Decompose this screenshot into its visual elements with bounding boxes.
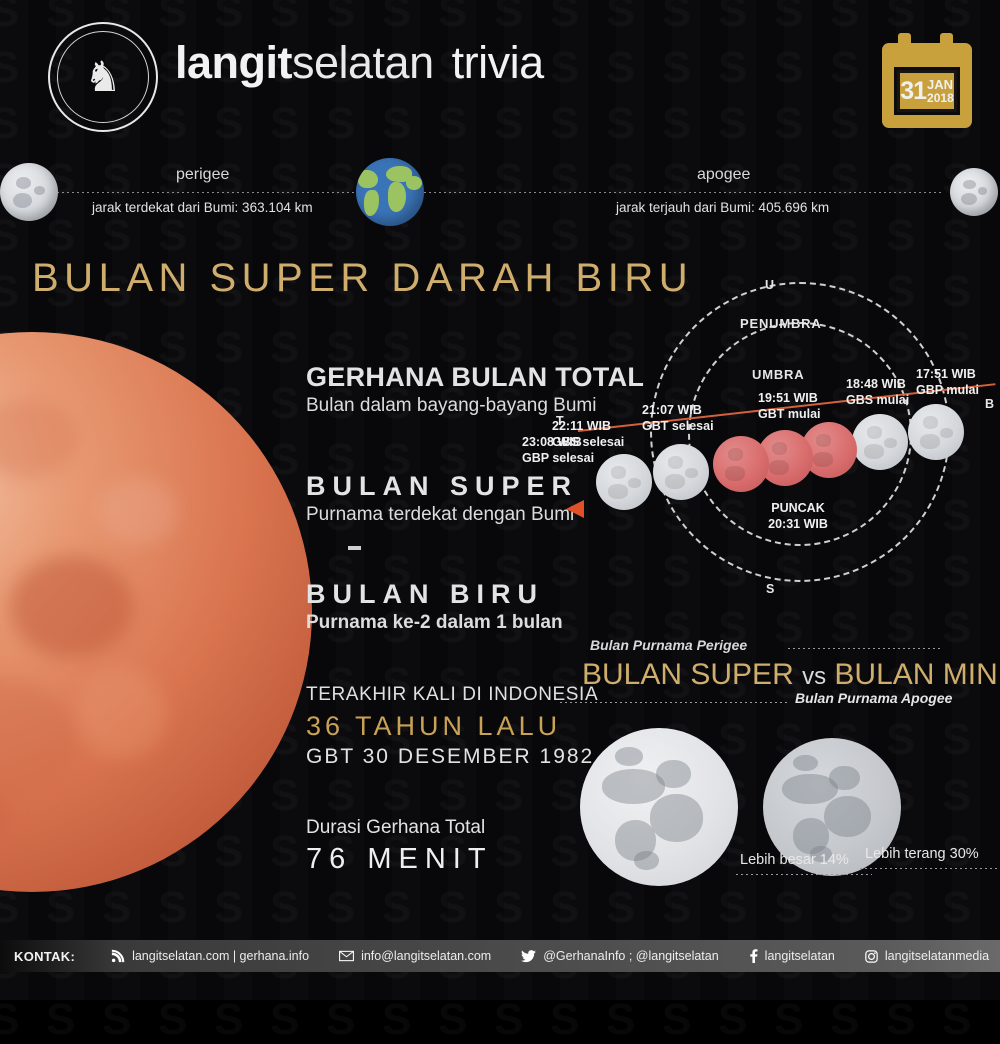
cardinal-north-label: U (765, 278, 775, 292)
apogee-distance: jarak terjauh dari Bumi: 405.696 km (616, 200, 829, 215)
duration-label: Durasi Gerhana Total (306, 817, 493, 839)
dotted-connector-bottom (560, 702, 790, 703)
phase-time: 23:08 WIB (522, 434, 594, 450)
last-occurrence-date: GBT 30 DESEMBER 1982 (306, 745, 598, 769)
envelope-icon (339, 950, 354, 962)
cardinal-east-label: B (985, 397, 995, 411)
footer-item-text: info@langitselatan.com (361, 949, 491, 963)
brand-light: selatan (292, 37, 434, 88)
apogee-label: apogee (697, 166, 750, 184)
phase-time: 17:51 WIB (916, 366, 979, 382)
brighter-percentage-label: Lebih terang 30% (865, 846, 979, 862)
phase-time: 21:07 WIB (642, 402, 714, 418)
phase-moon-5 (653, 444, 709, 500)
earth-globe-icon (356, 158, 424, 226)
phase-label-6: 23:08 WIB GBP selesai (522, 434, 594, 467)
instagram-icon (865, 950, 878, 963)
twitter-icon (521, 950, 536, 963)
phase-event: GBP mulai (916, 382, 979, 398)
last-occurrence-years: 36 TAHUN LALU (306, 711, 598, 742)
comparison-title-right: BULAN MINI (834, 658, 1000, 691)
footer-item-email[interactable]: info@langitselatan.com (339, 949, 491, 963)
dotted-underline-bigger (736, 874, 872, 875)
calendar-body: 31 JAN 2018 (882, 43, 972, 128)
moon-path-arrow-head (566, 500, 584, 518)
super-vs-mini-section: Bulan Purnama Perigee BULAN SUPER vs BUL… (560, 634, 1000, 894)
phase-moon-4 (713, 436, 769, 492)
comparison-title-left: BULAN SUPER (582, 658, 794, 691)
apogee-moon-icon (950, 168, 998, 216)
peak-title: PUNCAK (753, 500, 843, 516)
phase-moon-1 (908, 404, 964, 460)
perigee-moon-icon (0, 163, 58, 221)
perigee-fullmoon-label: Bulan Purnama Perigee (590, 637, 747, 653)
cardinal-south-label: S (766, 582, 775, 596)
comparison-title-vs: vs (802, 663, 826, 690)
dotted-connector-top (788, 648, 943, 649)
fact-bulan-super: BULAN SUPER Purnama terdekat dengan Bumi (306, 472, 578, 526)
footer-item-text: @GerhanaInfo ; @langitselatan (543, 949, 718, 963)
duration-value: 76 MENIT (306, 843, 493, 876)
phase-label-2: 18:48 WIB GBS mulai (846, 376, 909, 409)
fact-subtitle: Purnama ke-2 dalam 1 bulan (306, 612, 563, 634)
phase-event: GBP selesai (522, 450, 594, 466)
comparison-title: BULAN SUPER vs BULAN MINI (582, 658, 1000, 692)
umbra-label: UMBRA (752, 367, 804, 382)
calendar-date-plate: 31 JAN 2018 (900, 73, 954, 109)
footer-item-text: langitselatan.com | gerhana.info (132, 949, 309, 963)
last-occurrence-block: TERAKHIR KALI DI INDONESIA 36 TAHUN LALU… (306, 684, 598, 769)
calendar-badge: 31 JAN 2018 (882, 33, 972, 128)
seal-bottom-label: ASTRO 101 (50, 24, 120, 27)
peak-label: PUNCAK 20:31 WIB (753, 500, 843, 533)
footer-item-text: langitselatan (765, 949, 835, 963)
orbit-dotted-line-right (424, 192, 942, 193)
penumbra-label: PENUMBRA (740, 316, 822, 331)
calendar-month: JAN (927, 78, 954, 91)
calendar-day: 31 (900, 79, 926, 104)
brand-bold: langit (175, 37, 292, 88)
phase-event: GBT selesai (642, 418, 714, 434)
phase-time: 18:48 WIB (846, 376, 909, 392)
peak-time: 20:31 WIB (753, 516, 843, 532)
perigee-distance: jarak terdekat dari Bumi: 363.104 km (92, 200, 313, 215)
phase-time: 19:51 WIB (758, 390, 821, 406)
fact-subtitle: Purnama terdekat dengan Bumi (306, 504, 578, 526)
apogee-fullmoon-label: Bulan Purnama Apogee (795, 690, 952, 706)
super-moon-illustration (580, 728, 738, 886)
langitselatan-logo-seal: LANGITSELATAN ASTRO 101 ♞ (48, 22, 158, 132)
fact-bulan-biru: BULAN BIRU Purnama ke-2 dalam 1 bulan (306, 580, 563, 634)
footer-item-website[interactable]: langitselatan.com | gerhana.info (111, 949, 309, 963)
divider-dash (348, 546, 361, 550)
eclipse-path-diagram: PENUMBRA UMBRA U S T B 17:51 WIB GBP mu (560, 272, 1000, 612)
orbit-dotted-line-left (42, 192, 357, 193)
brand-title: langitselatantrivia (175, 40, 544, 85)
kontak-label: KONTAK: (14, 949, 75, 964)
fact-title: BULAN SUPER (306, 472, 578, 500)
last-occurrence-label: TERAKHIR KALI DI INDONESIA (306, 684, 598, 706)
phase-label-3: 19:51 WIB GBT mulai (758, 390, 821, 423)
perigee-label: perigee (176, 166, 229, 184)
facebook-icon (749, 949, 758, 963)
phase-time: 22:11 WIB (552, 418, 624, 434)
phase-moon-2 (852, 414, 908, 470)
footer-item-twitter[interactable]: @GerhanaInfo ; @langitselatan (521, 949, 718, 963)
calendar-year: 2018 (927, 92, 954, 104)
duration-block: Durasi Gerhana Total 76 MENIT (306, 817, 493, 876)
horse-rider-icon: ♞ (84, 56, 122, 98)
dotted-underline-brighter (860, 868, 1000, 869)
phase-event: GBS mulai (846, 392, 909, 408)
phase-moon-6 (596, 454, 652, 510)
phase-event: GBT mulai (758, 406, 821, 422)
phase-label-4: 21:07 WIB GBT selesai (642, 402, 714, 435)
fact-title: BULAN BIRU (306, 580, 563, 608)
phase-label-1: 17:51 WIB GBP mulai (916, 366, 979, 399)
rss-icon (111, 949, 125, 963)
calendar-month-year: JAN 2018 (927, 78, 954, 104)
footer-item-text: langitselatanmedia (885, 949, 989, 963)
bigger-percentage-label: Lebih besar 14% (740, 852, 849, 868)
brand-suffix: trivia (452, 37, 544, 88)
calendar-screen: 31 JAN 2018 (894, 67, 960, 115)
footer-item-instagram[interactable]: langitselatanmedia (865, 949, 989, 963)
contact-footer-bar: KONTAK: langitselatan.com | gerhana.info… (0, 940, 1000, 972)
footer-item-facebook[interactable]: langitselatan (749, 949, 835, 963)
